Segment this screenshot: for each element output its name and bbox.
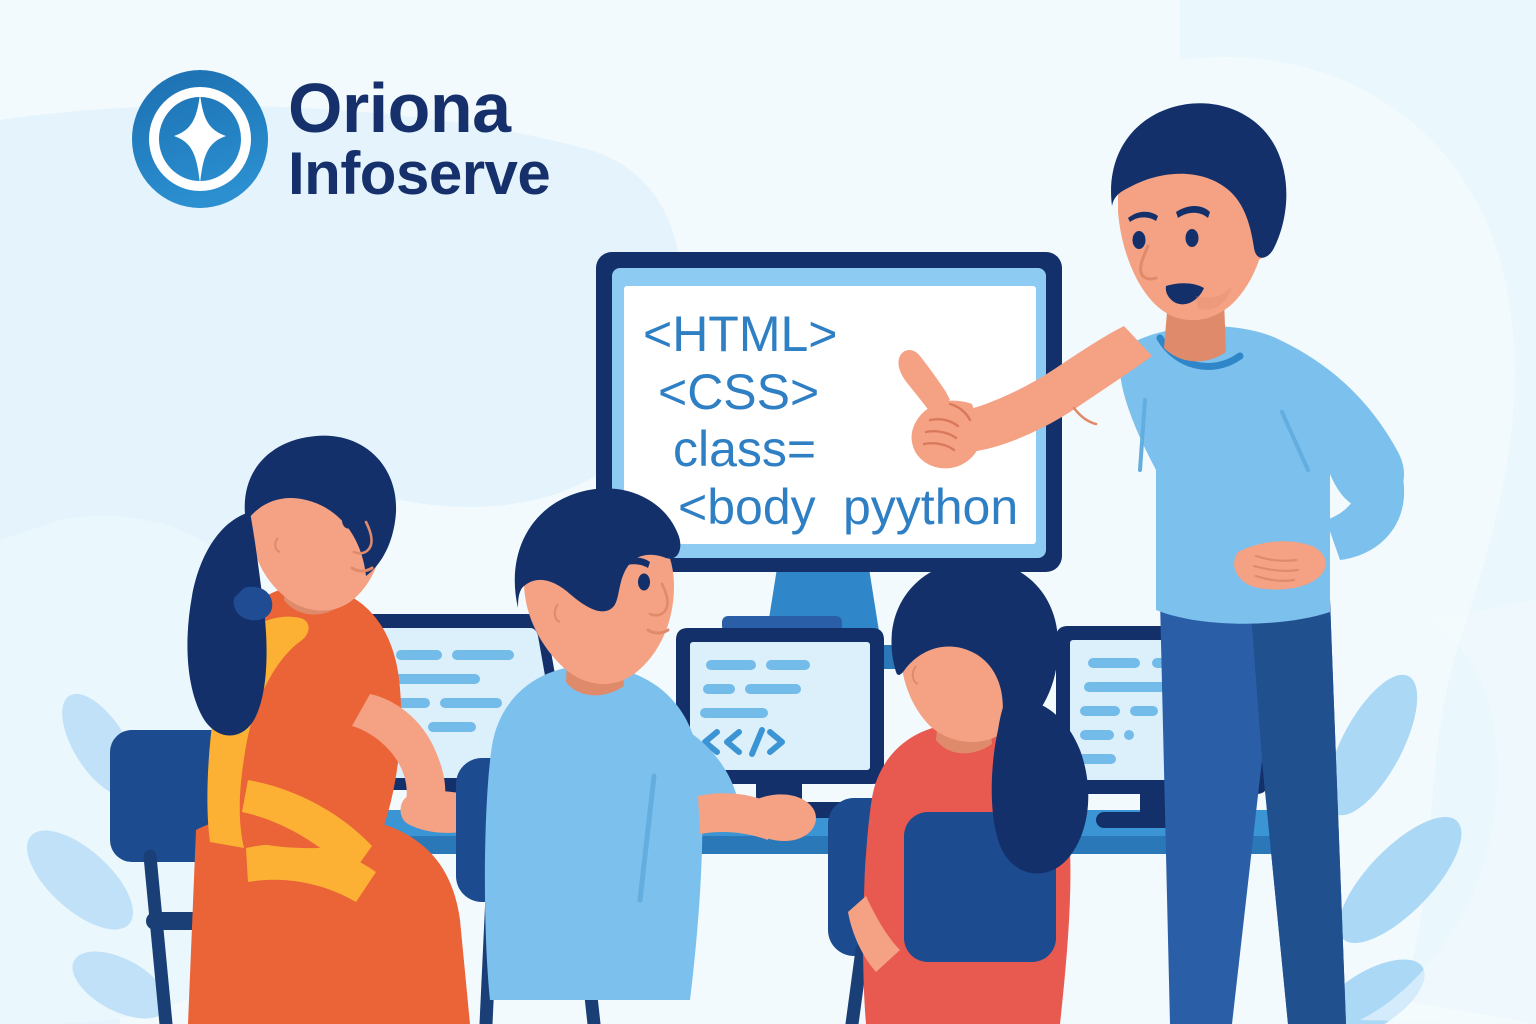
brand-wordmark: Oriona Infoserve	[288, 75, 550, 203]
four-point-star-badge-icon	[130, 68, 270, 210]
brand-name-secondary: Infoserve	[288, 145, 550, 203]
brand-logo[interactable]: Oriona Infoserve	[130, 68, 550, 210]
brand-name-primary: Oriona	[288, 75, 550, 143]
illustration-canvas: <HTML> <CSS> class= <body pyython	[0, 0, 1536, 1024]
girl-side-ponytail	[992, 699, 1089, 873]
